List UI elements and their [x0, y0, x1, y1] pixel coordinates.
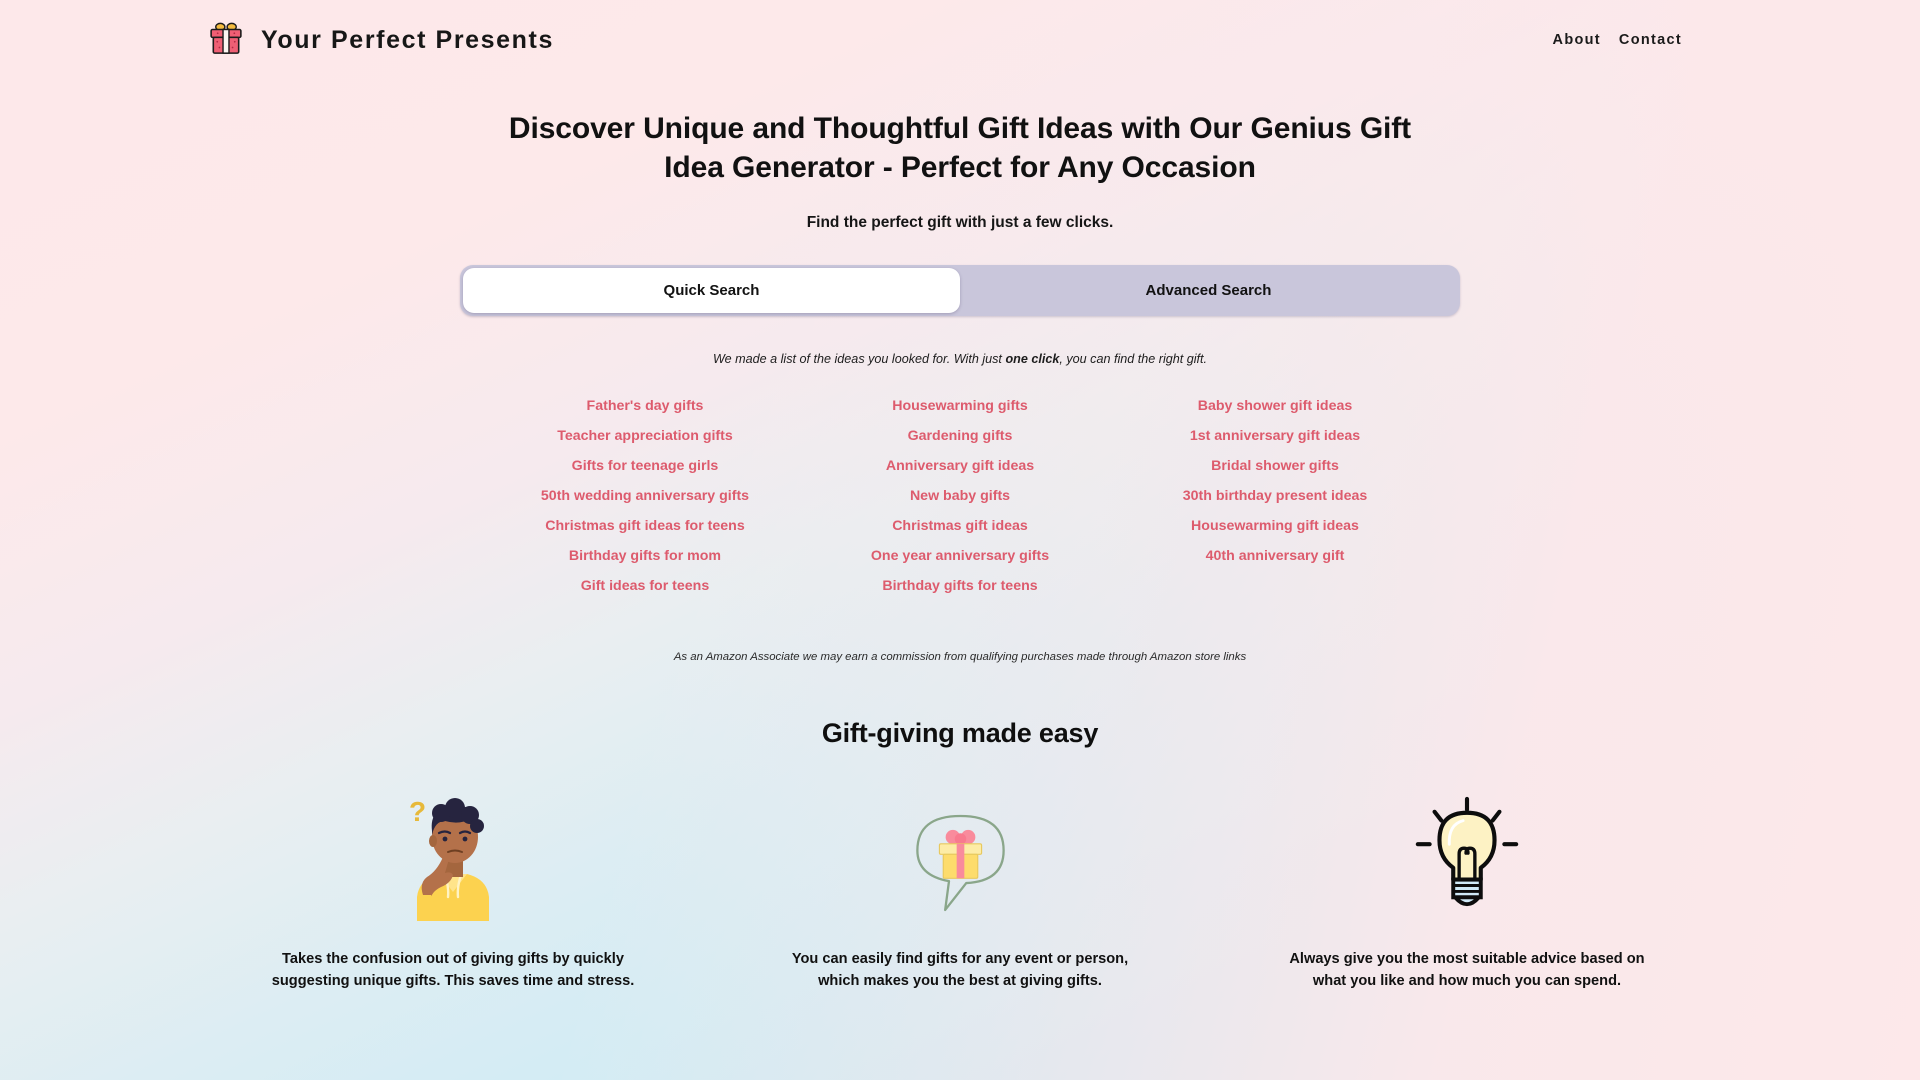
gift-link[interactable]: Gift ideas for teens [577, 571, 714, 601]
nav-link-about[interactable]: About [1553, 32, 1601, 48]
page-title: Discover Unique and Thoughtful Gift Idea… [480, 110, 1440, 187]
intro-note: We made a list of the ideas you looked f… [0, 352, 1920, 366]
intro-note-emphasis: one click [1005, 352, 1059, 366]
search-mode-tabs: Quick Search Advanced Search [460, 265, 1460, 316]
features-list: ? [0, 791, 1920, 992]
feature-text: Always give you the most suitable advice… [1277, 949, 1657, 992]
feature-text: Takes the confusion out of giving gifts … [263, 949, 643, 992]
feature-item: Always give you the most suitable advice… [1214, 791, 1721, 992]
gift-link[interactable]: Gifts for teenage girls [568, 451, 723, 481]
feature-text: You can easily find gifts for any event … [770, 949, 1150, 992]
intro-note-suffix: , you can find the right gift. [1059, 352, 1207, 366]
page-root: Your Perfect Presents About Contact Disc… [0, 0, 1920, 1080]
gift-link[interactable]: 1st anniversary gift ideas [1186, 421, 1364, 451]
gift-link[interactable]: 40th anniversary gift [1202, 541, 1349, 571]
gift-link-column-3: Baby shower gift ideas 1st anniversary g… [1118, 391, 1433, 601]
hero-section: Discover Unique and Thoughtful Gift Idea… [0, 80, 1920, 232]
gift-link[interactable]: Baby shower gift ideas [1194, 391, 1357, 421]
thinking-person-icon: ? [393, 791, 513, 921]
feature-item: ? [200, 791, 707, 992]
main-nav: About Contact [1553, 32, 1682, 48]
amazon-associate-disclaimer: As an Amazon Associate we may earn a com… [0, 651, 1920, 663]
gift-link[interactable]: One year anniversary gifts [867, 541, 1053, 571]
gift-link[interactable]: New baby gifts [906, 481, 1014, 511]
gift-link[interactable]: Birthday gifts for teens [878, 571, 1041, 601]
site-header: Your Perfect Presents About Contact [0, 0, 1920, 80]
lightbulb-icon [1408, 791, 1526, 921]
gift-link[interactable]: Gardening gifts [904, 421, 1017, 451]
speech-bubble-gift-icon [903, 791, 1018, 921]
gift-link[interactable]: Anniversary gift ideas [882, 451, 1038, 481]
gift-link[interactable]: Birthday gifts for mom [565, 541, 725, 571]
intro-note-prefix: We made a list of the ideas you looked f… [713, 352, 1006, 366]
nav-link-contact[interactable]: Contact [1619, 32, 1682, 48]
feature-item: You can easily find gifts for any event … [707, 791, 1214, 992]
gift-link[interactable]: Teacher appreciation gifts [553, 421, 737, 451]
tab-quick-search[interactable]: Quick Search [463, 268, 960, 313]
hero-subtitle: Find the perfect gift with just a few cl… [0, 214, 1920, 232]
gift-link[interactable]: 50th wedding anniversary gifts [537, 481, 753, 511]
gift-link[interactable]: Father's day gifts [583, 391, 708, 421]
gift-link-column-1: Father's day gifts Teacher appreciation … [488, 391, 803, 601]
gift-link[interactable]: Housewarming gifts [888, 391, 1032, 421]
features-section-title: Gift-giving made easy [0, 718, 1920, 749]
gift-link[interactable]: 30th birthday present ideas [1179, 481, 1372, 511]
tab-advanced-search[interactable]: Advanced Search [960, 268, 1457, 313]
gift-link-column-2: Housewarming gifts Gardening gifts Anniv… [803, 391, 1118, 601]
gift-link-columns: Father's day gifts Teacher appreciation … [0, 391, 1920, 601]
gift-link[interactable]: Housewarming gift ideas [1187, 511, 1363, 541]
gift-box-icon [205, 19, 247, 61]
gift-link[interactable]: Bridal shower gifts [1207, 451, 1343, 481]
brand-title: Your Perfect Presents [261, 26, 554, 55]
svg-text:?: ? [409, 796, 426, 827]
gift-link[interactable]: Christmas gift ideas for teens [541, 511, 748, 541]
brand-logo-link[interactable]: Your Perfect Presents [205, 19, 554, 61]
gift-link[interactable]: Christmas gift ideas [888, 511, 1032, 541]
